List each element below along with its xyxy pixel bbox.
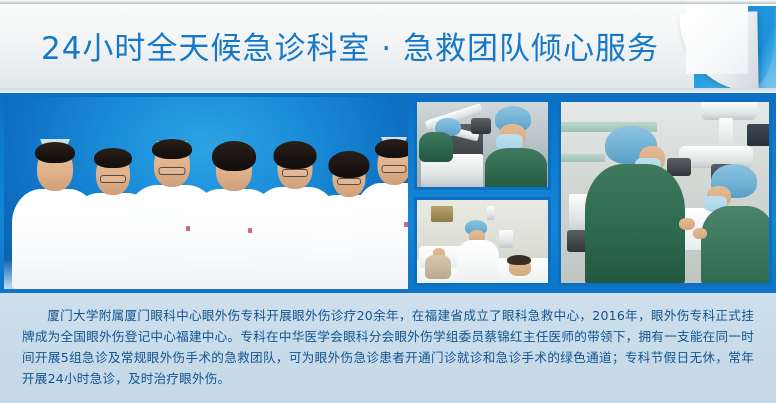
- photo-eye-surgery: [558, 99, 772, 286]
- page-title: 24小时全天候急诊科室 · 急救团队倾心服务: [0, 30, 700, 68]
- header-banner: 24小时全天候急诊科室 · 急救团队倾心服务: [0, 4, 776, 93]
- curl-fold-highlight: [686, 4, 748, 74]
- photo-collage: [0, 93, 776, 293]
- photo-ward-round: [414, 197, 551, 286]
- doctor-figure: [354, 137, 408, 289]
- description-text: 厦门大学附属厦门眼科中心眼外伤专科开展眼外伤诊疗20余年，在福建省成立了眼科急救…: [22, 305, 754, 389]
- page-curl-icon: [690, 4, 776, 93]
- photo-microscope-exam: [414, 99, 551, 190]
- photo-doctor-team: [4, 97, 408, 289]
- description-panel: 厦门大学附属厦门眼科中心眼外伤专科开展眼外伤诊疗20余年，在福建省成立了眼科急救…: [0, 293, 776, 403]
